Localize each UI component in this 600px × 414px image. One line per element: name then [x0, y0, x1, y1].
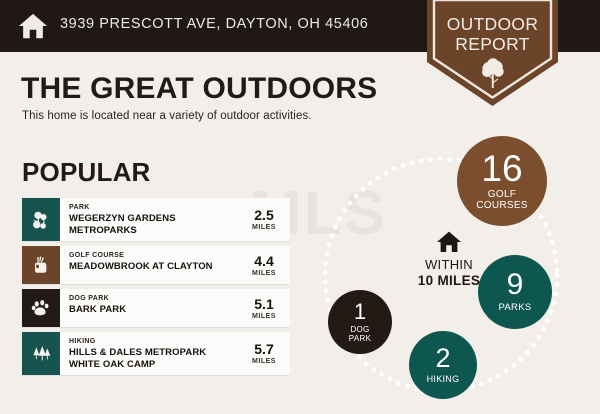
distance-value: 5.1: [254, 297, 273, 312]
diagram-center: WITHIN 10 MILES: [391, 230, 507, 288]
pine-trees-icon: [22, 332, 60, 375]
list-item-distance: 5.7 MILES: [241, 332, 290, 375]
bubble-label: DOG PARK: [349, 326, 371, 343]
outdoor-report-badge: OUTDOOR REPORT: [427, 0, 558, 106]
page-subtitle: This home is located near a variety of o…: [22, 110, 312, 122]
park-trees-icon: [22, 198, 60, 241]
distance-value: 4.4: [254, 254, 273, 269]
list-item-distance: 4.4 MILES: [241, 246, 290, 284]
badge-title-line1: OUTDOOR: [427, 14, 558, 34]
tree-icon: [480, 58, 506, 88]
list-item[interactable]: GOLF COURSE MEADOWBROOK AT CLAYTON 4.4 M…: [22, 246, 290, 284]
bubble-count: 9: [507, 270, 524, 300]
bubble-count: 1: [354, 301, 366, 323]
list-item-name: HILLS & DALES METROPARK WHITE OAK CAMP: [69, 347, 237, 370]
bubble-count: 16: [481, 150, 522, 187]
amenities-circle-diagram: 16 GOLF COURSES 9 PARKS 2 HIKING 1 DOG P…: [305, 130, 600, 414]
list-item-category: GOLF COURSE: [69, 251, 237, 260]
badge-title: OUTDOOR REPORT: [427, 14, 558, 54]
distance-value: 2.5: [254, 208, 273, 223]
home-icon: [18, 11, 48, 41]
list-item-distance: 5.1 MILES: [241, 289, 290, 327]
popular-heading: POPULAR: [22, 157, 151, 188]
center-label-line2: 10 MILES: [391, 273, 507, 288]
list-item-name: WEGERZYN GARDENS METROPARKS: [69, 213, 237, 236]
distance-unit: MILES: [252, 313, 276, 320]
distance-value: 5.7: [254, 342, 273, 357]
badge-title-line2: REPORT: [427, 34, 558, 54]
bubble-label: GOLF COURSES: [476, 190, 528, 212]
list-item-text: PARK WEGERZYN GARDENS METROPARKS: [60, 198, 241, 241]
list-item[interactable]: PARK WEGERZYN GARDENS METROPARKS 2.5 MIL…: [22, 198, 290, 241]
list-item[interactable]: HIKING HILLS & DALES METROPARK WHITE OAK…: [22, 332, 290, 375]
list-item-distance: 2.5 MILES: [241, 198, 290, 241]
list-item-text: HIKING HILLS & DALES METROPARK WHITE OAK…: [60, 332, 241, 375]
paw-print-icon: [22, 289, 60, 327]
bubble-label: PARKS: [498, 303, 531, 313]
bubble-label-line2: COURSES: [476, 201, 528, 212]
center-label-line1: WITHIN: [391, 257, 507, 272]
bubble-hiking[interactable]: 2 HIKING: [409, 331, 477, 399]
bubble-golf-courses[interactable]: 16 GOLF COURSES: [457, 136, 547, 226]
bubble-count: 2: [435, 345, 450, 372]
distance-unit: MILES: [252, 270, 276, 277]
list-item-text: DOG PARK BARK PARK: [60, 289, 241, 327]
bubble-dog-park[interactable]: 1 DOG PARK: [328, 290, 392, 354]
page-title: THE GREAT OUTDOORS: [21, 72, 377, 106]
outdoor-report-infographic: MLS 3939 PRESCOTT AVE, DAYTON, OH 45406 …: [0, 0, 600, 414]
popular-list: PARK WEGERZYN GARDENS METROPARKS 2.5 MIL…: [22, 198, 290, 380]
golf-bag-icon: [22, 246, 60, 284]
distance-unit: MILES: [252, 358, 276, 365]
list-item-name: BARK PARK: [69, 304, 237, 316]
property-address: 3939 PRESCOTT AVE, DAYTON, OH 45406: [60, 16, 368, 32]
bubble-label-line2: PARK: [349, 335, 371, 344]
bubble-label: HIKING: [427, 375, 460, 385]
distance-unit: MILES: [252, 224, 276, 231]
list-item-category: DOG PARK: [69, 294, 237, 303]
list-item-category: HIKING: [69, 337, 237, 346]
home-icon: [436, 230, 462, 254]
list-item-text: GOLF COURSE MEADOWBROOK AT CLAYTON: [60, 246, 241, 284]
list-item-category: PARK: [69, 203, 237, 212]
list-item-name: MEADOWBROOK AT CLAYTON: [69, 261, 237, 273]
list-item[interactable]: DOG PARK BARK PARK 5.1 MILES: [22, 289, 290, 327]
